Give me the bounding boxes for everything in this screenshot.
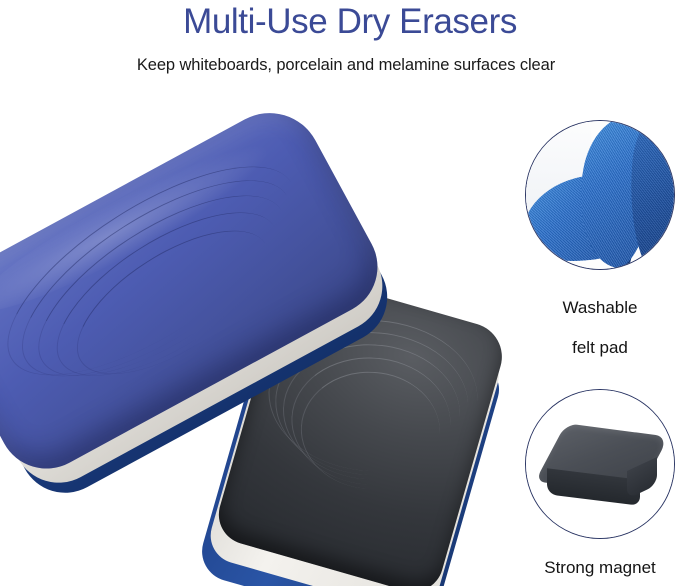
felt-pad-detail-circle [525, 120, 675, 270]
product-photo [0, 95, 520, 586]
page-subtitle: Keep whiteboards, porcelain and melamine… [0, 56, 679, 75]
callout-label-strong-magnet: Strong magnet [520, 558, 679, 578]
page-title: Multi-Use Dry Erasers [0, 2, 679, 42]
header-block: Multi-Use Dry Erasers Keep whiteboards, … [0, 0, 679, 92]
callout-label-washable: Washable [525, 298, 675, 318]
magnet-detail-image [526, 390, 674, 538]
felt-pad-detail-image [526, 121, 674, 269]
magnet-detail-circle [525, 389, 675, 539]
callout-label-felt-pad: felt pad [525, 338, 675, 358]
